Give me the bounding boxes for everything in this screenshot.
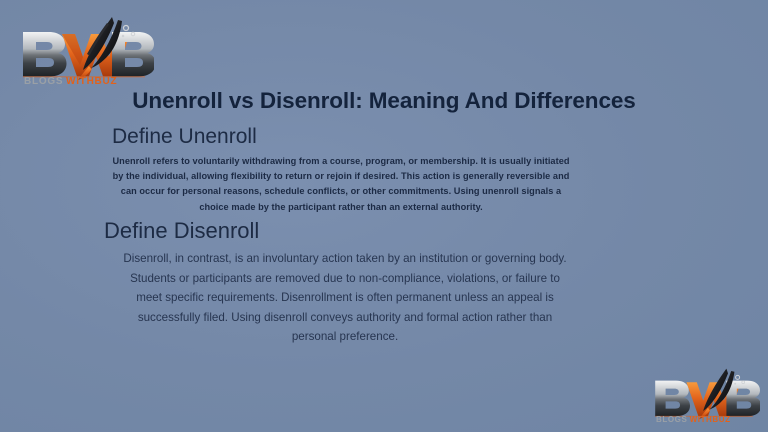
brand-logo-bottom[interactable]: BLOGS WITHBUZ (648, 366, 760, 424)
section-body-unenroll: Unenroll refers to voluntarily withdrawi… (112, 154, 570, 215)
page-title: Unenroll vs Disenroll: Meaning And Diffe… (0, 88, 768, 114)
svg-text:WITHBUZ: WITHBUZ (66, 76, 117, 86)
section-heading-unenroll: Define Unenroll (112, 125, 257, 149)
logo-letter-b-right (112, 32, 154, 77)
svg-text:WITHBUZ: WITHBUZ (690, 415, 731, 424)
svg-text:BLOGS: BLOGS (656, 415, 688, 424)
logo-letter-b-left (655, 381, 690, 417)
logo-tagline: BLOGS WITHBUZ (655, 415, 753, 424)
logo-letter-b-left (23, 32, 67, 77)
logo-tagline: BLOGS WITHBUZ (23, 76, 145, 86)
svg-text:BLOGS: BLOGS (24, 76, 63, 86)
brand-logo-top[interactable]: BLOGS WITHBUZ (14, 14, 154, 86)
logo-letter-b-right (726, 381, 760, 417)
section-heading-disenroll: Define Disenroll (104, 218, 259, 244)
section-body-disenroll: Disenroll, in contrast, is an involuntar… (120, 249, 570, 347)
slide-canvas: BLOGS WITHBUZ Unenroll vs Disenroll: Mea… (0, 0, 768, 432)
